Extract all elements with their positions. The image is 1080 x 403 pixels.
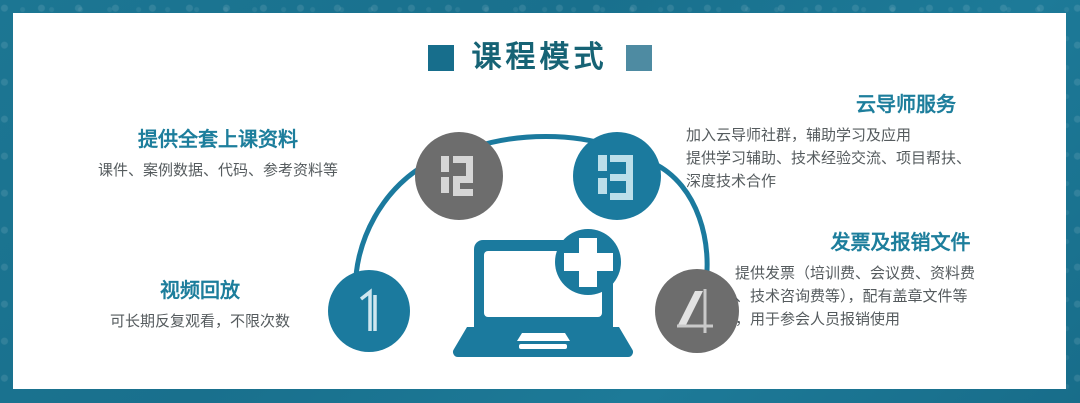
node-four[interactable]: [655, 269, 739, 353]
block-top-left-line-1: 课件、案例数据、代码、参考资料等: [53, 160, 383, 183]
block-top-left: 提供全套上课资料 课件、案例数据、代码、参考资料等: [53, 128, 383, 183]
block-top-right-line-1: 加入云导师社群，辅助学习及应用: [686, 125, 1056, 148]
block-top-right-line-2: 提供学习辅助、技术经验交流、项目帮扶、: [686, 148, 1056, 171]
block-bottom-left-heading: 视频回放: [35, 279, 365, 304]
laptop-base: [453, 327, 633, 357]
block-bottom-right-heading: 发票及报销文件: [735, 231, 1066, 256]
block-top-right: 云导师服务 加入云导师社群，辅助学习及应用 提供学习辅助、技术经验交流、项目帮扶…: [686, 93, 1056, 193]
block-top-right-heading: 云导师服务: [686, 93, 1056, 118]
laptop-trackpad: [517, 333, 570, 341]
block-top-left-heading: 提供全套上课资料: [53, 128, 383, 153]
block-top-right-body: 加入云导师社群，辅助学习及应用 提供学习辅助、技术经验交流、项目帮扶、 深度技术…: [686, 125, 1056, 193]
slide-root: 课程模式: [0, 0, 1080, 403]
slide-canvas: 课程模式: [13, 13, 1066, 389]
block-bottom-left-body: 可长期反复观看，不限次数: [35, 311, 365, 334]
block-bottom-left-line-1: 可长期反复观看，不限次数: [35, 311, 365, 334]
node-three[interactable]: [573, 132, 661, 220]
laptop-trackpad-bar: [519, 344, 567, 349]
laptop-plus-icon: [453, 229, 633, 357]
block-bottom-left: 视频回放 可长期反复观看，不限次数: [35, 279, 365, 334]
node-two[interactable]: [415, 132, 503, 220]
block-bottom-right-line-1: 提供发票（培训费、会议费、资料费: [735, 263, 1066, 286]
block-bottom-right-line-2: 、技术咨询费等），配有盖章文件等: [735, 286, 1066, 309]
block-top-left-body: 课件、案例数据、代码、参考资料等: [53, 160, 383, 183]
block-bottom-right-body: 提供发票（培训费、会议费、资料费 、技术咨询费等），配有盖章文件等 ，用于参会人…: [735, 263, 1066, 331]
block-top-right-line-3: 深度技术合作: [686, 171, 1056, 194]
block-bottom-right: 发票及报销文件 提供发票（培训费、会议费、资料费 、技术咨询费等），配有盖章文件…: [735, 231, 1066, 331]
block-bottom-right-line-3: ，用于参会人员报销使用: [735, 309, 1066, 332]
node-four-circle: [655, 269, 739, 353]
